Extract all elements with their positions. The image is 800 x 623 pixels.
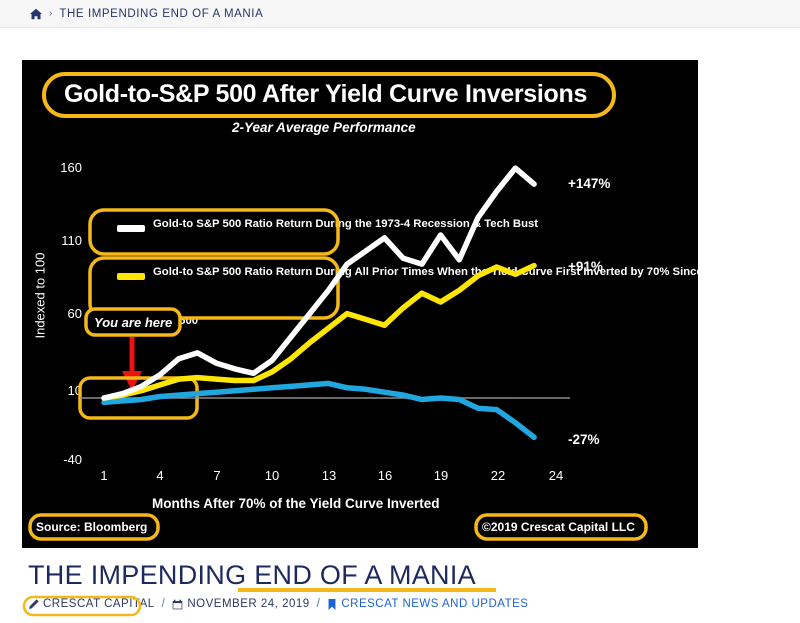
end-label-white: +147% xyxy=(568,176,610,191)
home-icon[interactable] xyxy=(30,8,42,20)
post-category[interactable]: CRESCAT NEWS AND UPDATES xyxy=(341,598,528,610)
breadcrumb: › THE IMPENDING END OF A MANIA xyxy=(0,0,800,28)
chart-image: Gold-to-S&P 500 After Yield Curve Invers… xyxy=(22,60,698,548)
page-title-text: THE IMPENDING END OF A MANIA xyxy=(28,560,476,590)
meta-separator-2: / xyxy=(317,598,321,610)
bookmark-icon xyxy=(327,599,337,610)
copyright-note: ©2019 Crescat Capital LLC xyxy=(482,520,635,534)
meta-separator-1: / xyxy=(162,598,166,610)
series-line-sp500 xyxy=(104,383,534,437)
pencil-icon xyxy=(28,599,39,610)
chart-plot xyxy=(22,60,698,548)
source-note: Source: Bloomberg xyxy=(36,520,147,534)
calendar-icon xyxy=(172,599,183,610)
end-label-blue: -27% xyxy=(568,432,600,447)
legend-white-highlight-shape xyxy=(90,210,338,254)
post-date: NOVEMBER 24, 2019 xyxy=(187,598,309,610)
post-author[interactable]: CRESCAT CAPITAL xyxy=(43,598,155,610)
breadcrumb-separator: › xyxy=(49,8,52,19)
post-meta: CRESCAT CAPITAL / NOVEMBER 24, 2019 / CR… xyxy=(28,598,528,610)
end-label-yellow: +91% xyxy=(568,259,603,274)
breadcrumb-current[interactable]: THE IMPENDING END OF A MANIA xyxy=(59,8,263,20)
red-arrow-icon xyxy=(122,337,142,391)
page-title[interactable]: THE IMPENDING END OF A MANIA xyxy=(28,560,476,591)
you-are-here-label: You are here xyxy=(94,315,172,330)
title-highlight-shape xyxy=(44,74,614,116)
